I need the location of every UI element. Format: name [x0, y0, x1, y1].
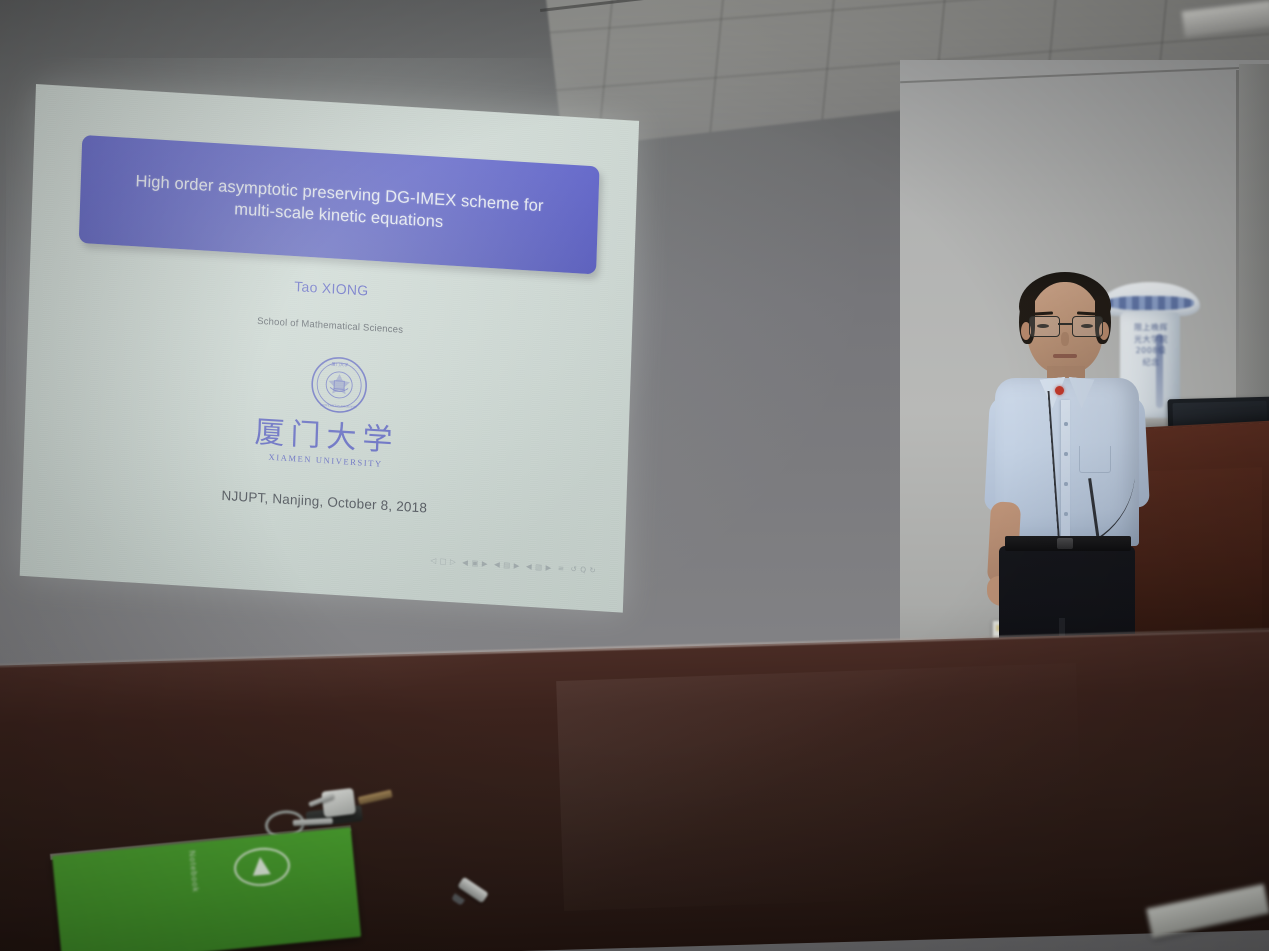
- projection-screen: High order asymptotic preserving DG-IMEX…: [36, 84, 640, 576]
- slide-title-box: High order asymptotic preserving DG-IMEX…: [79, 135, 600, 275]
- glasses-lens-left: [1029, 316, 1060, 337]
- belt-buckle: [1057, 538, 1073, 549]
- presenter: [975, 270, 1185, 680]
- nose: [1061, 332, 1069, 346]
- nav-symbol: ↺ Q ↻: [570, 564, 596, 575]
- nav-symbol: ◀ ▤ ▶: [494, 559, 520, 570]
- glasses-lens-right: [1072, 316, 1103, 337]
- key-fob: [321, 788, 356, 818]
- xiamen-university-seal-icon: 厦门大学 UNIVERSITAS AMOIENSIS: [308, 353, 370, 417]
- nav-symbol: ◀ ▥ ▶: [526, 561, 552, 572]
- glasses-bridge: [1058, 323, 1072, 325]
- book-spine-text: Notebook: [184, 850, 201, 893]
- presentation-photo-scene: High order asymptotic preserving DG-IMEX…: [0, 0, 1269, 951]
- slide-title: High order asymptotic preserving DG-IMEX…: [118, 169, 559, 240]
- book-logo-icon: [232, 845, 291, 888]
- mouth: [1053, 354, 1077, 358]
- svg-text:厦门大学: 厦门大学: [331, 360, 348, 368]
- brass-key: [358, 789, 393, 804]
- university-wordmark: 厦门大学 XIAMEN UNIVERSITY: [24, 404, 629, 484]
- slide-venue: NJUPT, Nanjing, October 8, 2018: [23, 476, 627, 528]
- nav-symbol: ◀ ▣ ▶: [462, 557, 488, 568]
- lapel-microphone-icon: [1055, 386, 1064, 395]
- slide-content: High order asymptotic preserving DG-IMEX…: [20, 84, 639, 613]
- nav-symbol: ≡: [558, 563, 565, 572]
- nav-symbol: ◁ □ ▷: [430, 555, 456, 566]
- beamer-navigation-bar: ◁ □ ▷ ◀ ▣ ▶ ◀ ▤ ▶ ◀ ▥ ▶ ≡ ↺ Q ↻: [430, 553, 610, 578]
